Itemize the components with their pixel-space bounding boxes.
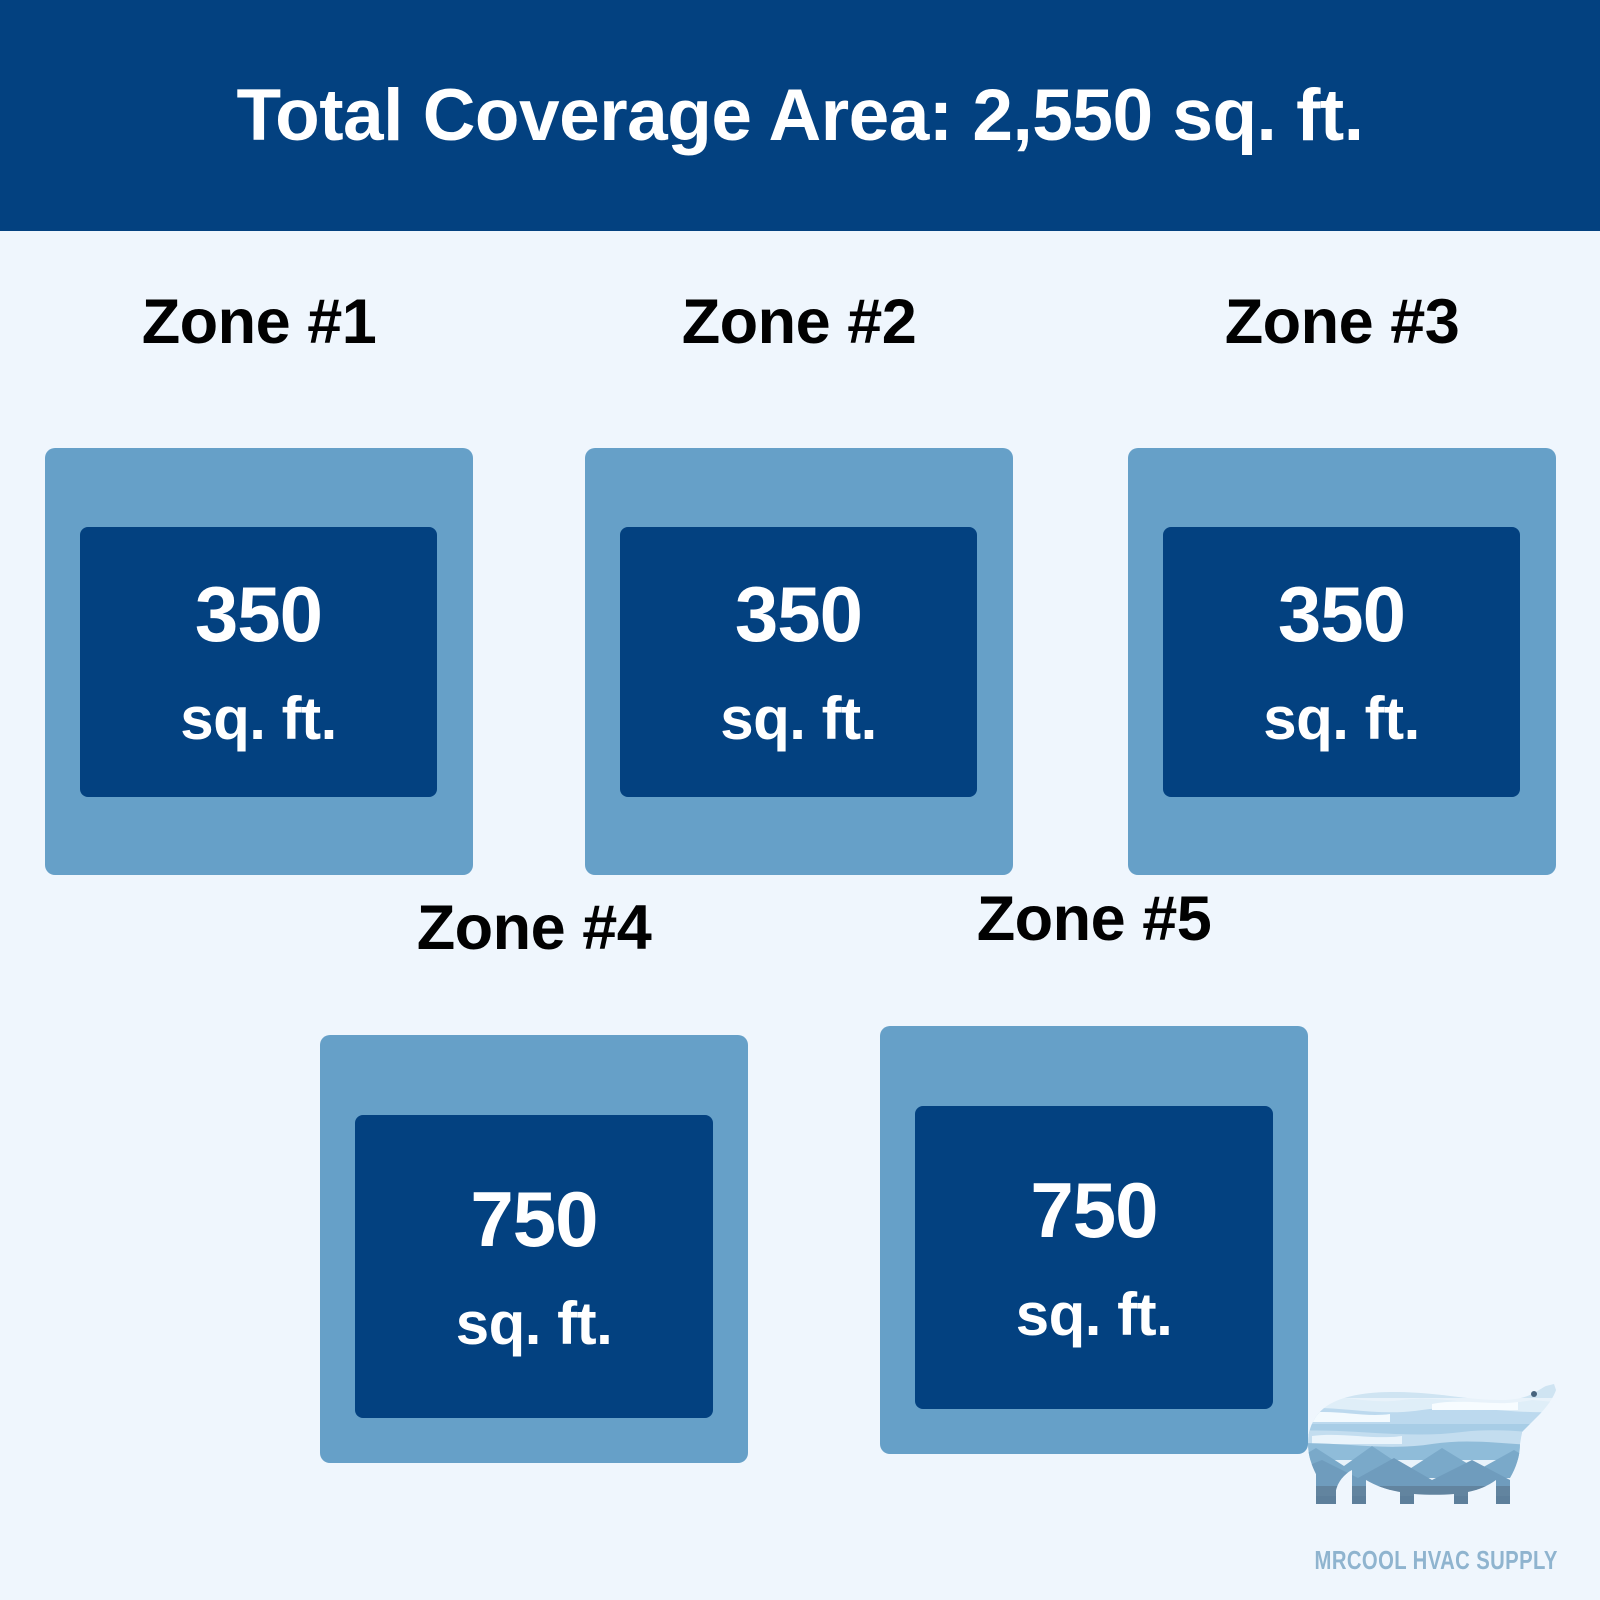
- zone-label-3: Zone #3: [1128, 291, 1556, 354]
- zone-inner-box-1: 350 sq. ft.: [80, 527, 437, 797]
- zone-value-2: 350: [735, 575, 862, 653]
- zone-label-2: Zone #2: [585, 291, 1013, 354]
- zone-unit-5: sq. ft.: [1016, 1285, 1173, 1345]
- zone-value-1: 350: [195, 575, 322, 653]
- zone-label-1: Zone #1: [45, 291, 473, 354]
- zone-inner-box-3: 350 sq. ft.: [1163, 527, 1520, 797]
- zone-inner-box-4: 750 sq. ft.: [355, 1115, 713, 1418]
- zone-inner-box-2: 350 sq. ft.: [620, 527, 977, 797]
- zone-unit-4: sq. ft.: [456, 1294, 613, 1354]
- zone-outer-square-5: 750 sq. ft.: [880, 1026, 1308, 1454]
- zone-value-4: 750: [470, 1180, 597, 1258]
- zone-unit-2: sq. ft.: [720, 689, 877, 749]
- zone-outer-square-1: 350 sq. ft.: [45, 448, 473, 875]
- zone-outer-square-2: 350 sq. ft.: [585, 448, 1013, 875]
- zone-label-4: Zone #4: [320, 897, 748, 960]
- zone-value-5: 750: [1030, 1171, 1157, 1249]
- zone-unit-3: sq. ft.: [1263, 689, 1420, 749]
- header-banner: Total Coverage Area: 2,550 sq. ft.: [0, 0, 1600, 231]
- zone-inner-box-5: 750 sq. ft.: [915, 1106, 1273, 1409]
- page-title: Total Coverage Area: 2,550 sq. ft.: [236, 79, 1363, 152]
- zone-outer-square-4: 750 sq. ft.: [320, 1035, 748, 1463]
- brand-logo: MRCOOL HVAC SUPPLY: [1282, 1344, 1578, 1584]
- zone-unit-1: sq. ft.: [180, 689, 337, 749]
- zone-label-5: Zone #5: [880, 888, 1308, 951]
- zone-outer-square-3: 350 sq. ft.: [1128, 448, 1556, 875]
- logo-wordmark: MRCOOL HVAC SUPPLY: [1315, 1545, 1546, 1576]
- polar-bear-icon: [1282, 1344, 1578, 1534]
- zone-value-3: 350: [1278, 575, 1405, 653]
